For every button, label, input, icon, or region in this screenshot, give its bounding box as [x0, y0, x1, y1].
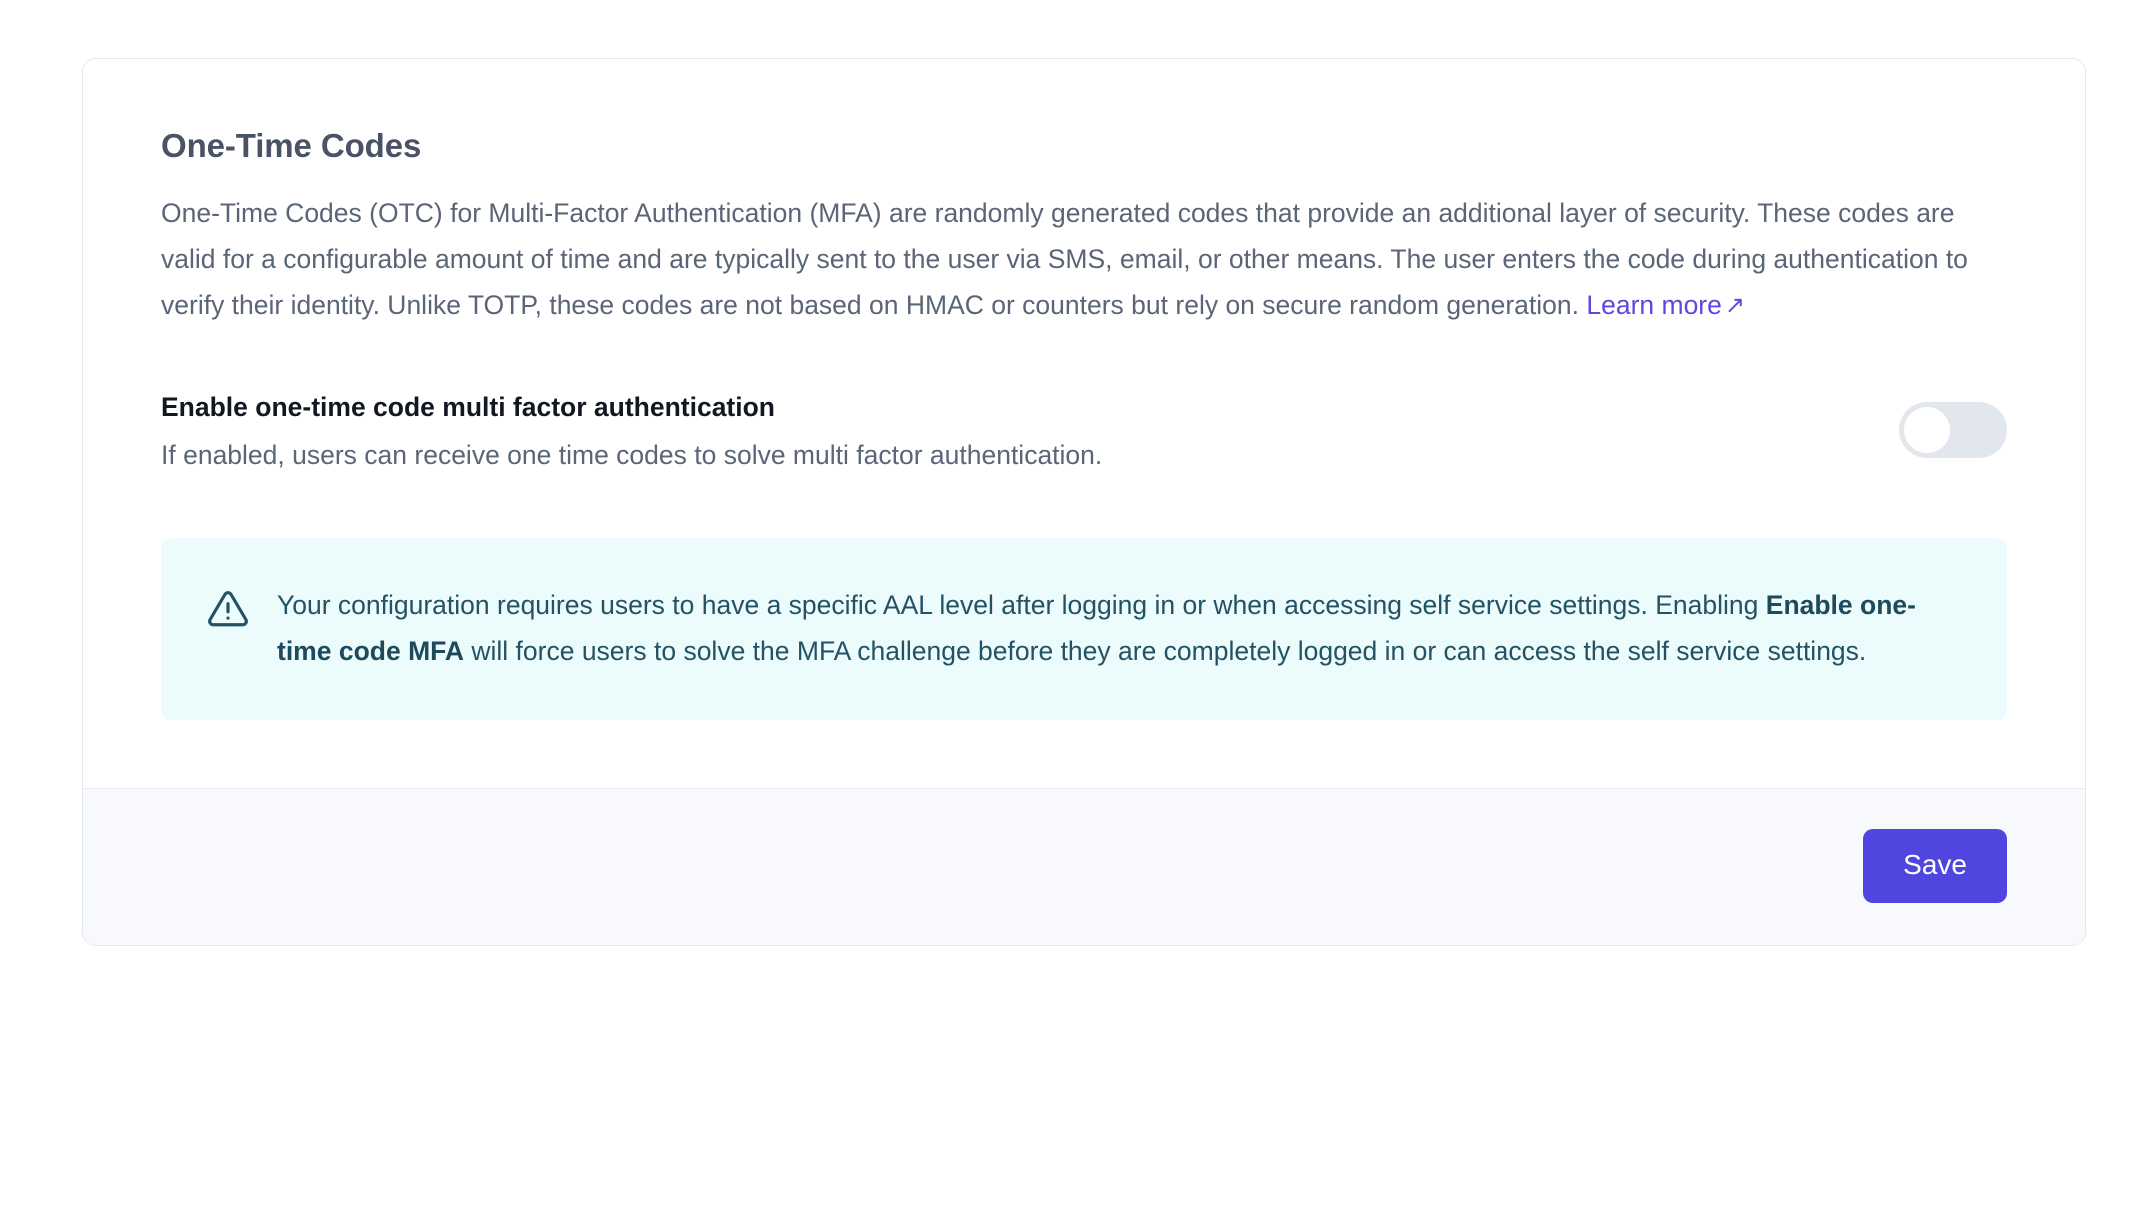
callout-text-part-1: Your configuration requires users to hav… — [277, 590, 1766, 620]
setting-label: Enable one-time code multi factor authen… — [161, 390, 1859, 426]
external-link-arrow-icon: ↗ — [1725, 294, 1745, 318]
page-title: One-Time Codes — [161, 125, 2007, 166]
toggle-knob — [1904, 407, 1950, 453]
learn-more-label: Learn more — [1586, 290, 1722, 320]
one-time-codes-card: One-Time Codes One-Time Codes (OTC) for … — [82, 58, 2086, 946]
enable-otc-toggle[interactable] — [1899, 402, 2007, 458]
callout-text-part-2: will force users to solve the MFA challe… — [464, 636, 1866, 666]
card-body: One-Time Codes One-Time Codes (OTC) for … — [83, 59, 2085, 720]
learn-more-link[interactable]: Learn more↗ — [1586, 290, 1745, 320]
callout-text: Your configuration requires users to hav… — [277, 582, 1961, 674]
card-description: One-Time Codes (OTC) for Multi-Factor Au… — [161, 190, 1991, 328]
save-button[interactable]: Save — [1863, 829, 2007, 903]
card-footer: Save — [83, 788, 2085, 945]
warning-triangle-icon — [207, 588, 249, 630]
aal-warning-callout: Your configuration requires users to hav… — [161, 538, 2007, 720]
enable-otc-setting-row: Enable one-time code multi factor authen… — [161, 390, 2007, 474]
setting-text-group: Enable one-time code multi factor authen… — [161, 390, 1859, 474]
setting-help-text: If enabled, users can receive one time c… — [161, 438, 1859, 474]
page-root: One-Time Codes One-Time Codes (OTC) for … — [0, 0, 2146, 1218]
